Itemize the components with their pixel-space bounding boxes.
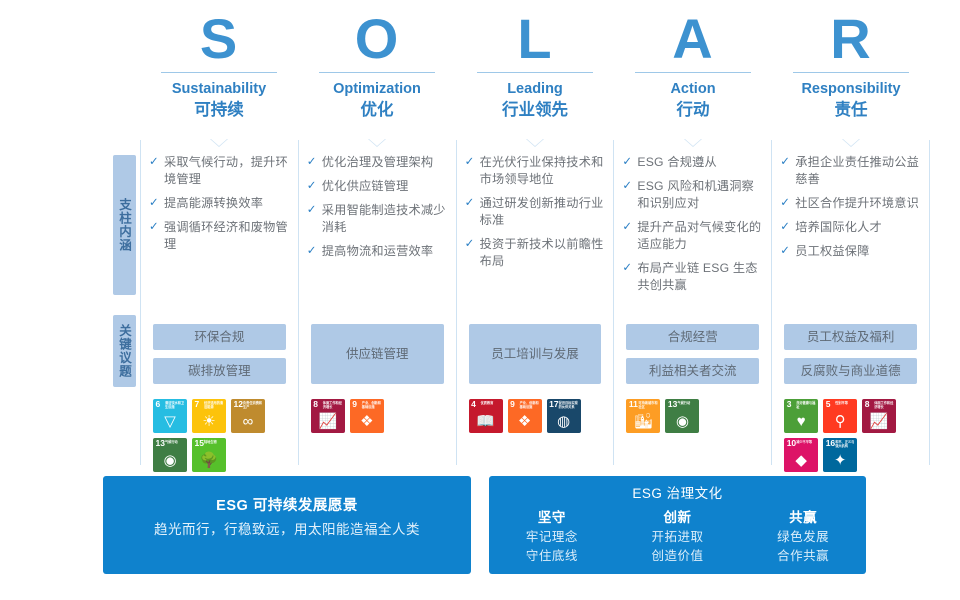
sdg-label: 体面工作和经济增长 bbox=[323, 401, 344, 409]
key-issue-list: 供应链管理 bbox=[307, 315, 448, 393]
bullet-text: 提升产品对气候变化的适应能力 bbox=[637, 219, 763, 253]
sdg-glyph-icon: ❖ bbox=[508, 412, 542, 432]
sdg-label: 产业、创新和基础设施 bbox=[362, 401, 383, 409]
sdg-label: 气候行动 bbox=[677, 401, 698, 405]
culture-group-head: 创新 bbox=[615, 507, 741, 528]
bullet-item: ✓优化治理及管理架构 bbox=[307, 154, 448, 171]
sdg-glyph-icon: 🌳 bbox=[192, 451, 226, 471]
pillar-header-a: AAction行动 bbox=[614, 8, 772, 133]
sdg-number: 9 bbox=[510, 400, 515, 409]
sdg-9-icon[interactable]: 9产业、创新和基础设施❖ bbox=[508, 399, 542, 433]
pillar-header-r: RResponsibility责任 bbox=[772, 8, 930, 133]
bullet-item: ✓ESG 风险和机遇洞察和识别应对 bbox=[622, 178, 763, 212]
bullet-item: ✓ESG 合规遵从 bbox=[622, 154, 763, 171]
bullet-text: 强调循环经济和废物管理 bbox=[164, 219, 290, 253]
bullet-text: 承担企业责任推动公益慈善 bbox=[795, 154, 921, 188]
sdg-glyph-icon: ◆ bbox=[784, 451, 818, 471]
culture-group: 创新开拓进取创造价值 bbox=[615, 507, 741, 566]
check-icon: ✓ bbox=[465, 154, 480, 171]
column-caret-icon bbox=[210, 139, 228, 147]
pillar-divider bbox=[635, 72, 751, 73]
sdg-label: 性别平等 bbox=[835, 401, 856, 405]
bullet-text: 员工权益保障 bbox=[795, 243, 869, 260]
key-issue-chip[interactable]: 利益相关者交流 bbox=[626, 358, 759, 384]
sdg-glyph-icon: ∞ bbox=[231, 412, 265, 432]
sdg-13-icon[interactable]: 13气候行动◉ bbox=[153, 438, 187, 472]
bullet-item: ✓布局产业链 ESG 生态共创共赢 bbox=[622, 260, 763, 294]
sdg-15-icon[interactable]: 15陆地生物🌳 bbox=[192, 438, 226, 472]
culture-groups: 坚守牢记理念守住底线创新开拓进取创造价值共赢绿色发展合作共赢 bbox=[489, 507, 866, 566]
pillar-divider bbox=[793, 72, 909, 73]
check-icon: ✓ bbox=[149, 195, 164, 212]
bullet-text: 采用智能制造技术减少消耗 bbox=[322, 202, 448, 236]
key-issue-chip[interactable]: 供应链管理 bbox=[311, 324, 444, 384]
check-icon: ✓ bbox=[780, 195, 795, 212]
bullet-item: ✓强调循环经济和废物管理 bbox=[149, 219, 290, 253]
key-issue-chip[interactable]: 碳排放管理 bbox=[153, 358, 286, 384]
bottom-banners: ESG 可持续发展愿景 趋光而行，行稳致远，用太阳能造福全人类 ESG 治理文化… bbox=[103, 476, 866, 574]
pillar-name-cn: 行动 bbox=[677, 99, 710, 121]
sdg-7-icon[interactable]: 7经济适用的清洁能源☀ bbox=[192, 399, 226, 433]
sdg-icon-group: 4优质教育📖9产业、创新和基础设施❖17促进目标实现的伙伴关系◍ bbox=[465, 393, 606, 433]
sdg-glyph-icon: ▽ bbox=[153, 412, 187, 432]
sdg-glyph-icon: ✦ bbox=[823, 451, 857, 471]
row-label-key-issues: 关键议题 bbox=[113, 315, 136, 387]
sdg-label: 可持续城市和社区 bbox=[638, 401, 659, 409]
solar-header: SSustainability可持续OOptimization优化LLeadin… bbox=[140, 8, 930, 133]
bullet-text: ESG 风险和机遇洞察和识别应对 bbox=[637, 178, 763, 212]
sdg-label: 促进目标实现的伙伴关系 bbox=[559, 401, 580, 409]
bullet-item: ✓投资于新技术以前瞻性布局 bbox=[465, 236, 606, 270]
pillar-name-en: Responsibility bbox=[801, 80, 900, 98]
bullet-text: 社区合作提升环境意识 bbox=[795, 195, 919, 212]
key-issue-list: 合规经营利益相关者交流 bbox=[622, 315, 763, 393]
pillar-name-en: Leading bbox=[507, 80, 563, 98]
pillar-board: ✓采取气候行动，提升环境管理✓提高能源转换效率✓强调循环经济和废物管理环保合规碳… bbox=[140, 140, 930, 465]
column-caret-icon bbox=[684, 139, 702, 147]
bullet-text: 通过研发创新推动行业标准 bbox=[480, 195, 606, 229]
sdg-3-icon[interactable]: 3良好健康与福祉♥ bbox=[784, 399, 818, 433]
key-issue-list: 员工权益及福利反腐败与商业道德 bbox=[780, 315, 921, 393]
sdg-5-icon[interactable]: 5性别平等⚲ bbox=[823, 399, 857, 433]
bullet-text: 采取气候行动，提升环境管理 bbox=[164, 154, 290, 188]
sdg-8-icon[interactable]: 8体面工作和经济增长📈 bbox=[311, 399, 345, 433]
check-icon: ✓ bbox=[622, 154, 637, 171]
bullet-item: ✓承担企业责任推动公益慈善 bbox=[780, 154, 921, 188]
bullet-item: ✓通过研发创新推动行业标准 bbox=[465, 195, 606, 229]
sdg-number: 7 bbox=[195, 400, 200, 409]
sdg-glyph-icon: ❖ bbox=[350, 412, 384, 432]
sdg-glyph-icon: ◉ bbox=[153, 451, 187, 471]
pillar-header-s: SSustainability可持续 bbox=[140, 8, 298, 133]
sdg-number: 3 bbox=[787, 400, 792, 409]
sdg-6-icon[interactable]: 6清洁饮水和卫生设施▽ bbox=[153, 399, 187, 433]
vision-title: ESG 可持续发展愿景 bbox=[216, 494, 358, 518]
sdg-glyph-icon: ◍ bbox=[547, 412, 581, 432]
pillar-bullet-list: ✓承担企业责任推动公益慈善✓社区合作提升环境意识✓培养国际化人才✓员工权益保障 bbox=[780, 140, 921, 315]
pillar-letter: R bbox=[830, 8, 871, 70]
sdg-number: 5 bbox=[826, 400, 831, 409]
check-icon: ✓ bbox=[307, 154, 322, 171]
pillar-name-en: Optimization bbox=[333, 80, 421, 98]
column-caret-icon bbox=[526, 139, 544, 147]
key-issue-list: 环保合规碳排放管理 bbox=[149, 315, 290, 393]
culture-group-line1: 开拓进取 bbox=[615, 528, 741, 547]
sdg-glyph-icon: 📈 bbox=[862, 412, 896, 432]
check-icon: ✓ bbox=[780, 243, 795, 260]
vision-subtitle: 趋光而行，行稳致远，用太阳能造福全人类 bbox=[154, 518, 420, 542]
bullet-text: 优化供应链管理 bbox=[322, 178, 409, 195]
pillar-bullet-list: ✓采取气候行动，提升环境管理✓提高能源转换效率✓强调循环经济和废物管理 bbox=[149, 140, 290, 315]
check-icon: ✓ bbox=[307, 202, 322, 219]
pillar-name-cn: 优化 bbox=[361, 99, 394, 121]
bullet-item: ✓提高能源转换效率 bbox=[149, 195, 290, 212]
bullet-text: 在光伏行业保持技术和市场领导地位 bbox=[480, 154, 606, 188]
sdg-label: 和平、正义与强大机构 bbox=[835, 440, 856, 448]
pillar-column-4: ✓ESG 合规遵从✓ESG 风险和机遇洞察和识别应对✓提升产品对气候变化的适应能… bbox=[613, 140, 771, 465]
sdg-label: 清洁饮水和卫生设施 bbox=[165, 401, 186, 409]
check-icon: ✓ bbox=[780, 219, 795, 236]
sdg-8-icon[interactable]: 8体面工作和经济增长📈 bbox=[862, 399, 896, 433]
sdg-icon-group: 6清洁饮水和卫生设施▽7经济适用的清洁能源☀12负责任消费和生产∞13气候行动◉… bbox=[149, 393, 290, 472]
pillar-name-en: Action bbox=[670, 80, 715, 98]
check-icon: ✓ bbox=[307, 243, 322, 260]
culture-group-head: 共赢 bbox=[740, 507, 866, 528]
bullet-text: 提高能源转换效率 bbox=[164, 195, 263, 212]
culture-group: 坚守牢记理念守住底线 bbox=[489, 507, 615, 566]
culture-group: 共赢绿色发展合作共赢 bbox=[740, 507, 866, 566]
pillar-letter: L bbox=[517, 8, 552, 70]
pillar-divider bbox=[319, 72, 435, 73]
pillar-header-o: OOptimization优化 bbox=[298, 8, 456, 133]
sdg-4-icon[interactable]: 4优质教育📖 bbox=[469, 399, 503, 433]
sdg-label: 减少不平等 bbox=[796, 440, 817, 444]
bullet-item: ✓优化供应链管理 bbox=[307, 178, 448, 195]
culture-group-line2: 创造价值 bbox=[615, 547, 741, 566]
pillar-bullet-list: ✓ESG 合规遵从✓ESG 风险和机遇洞察和识别应对✓提升产品对气候变化的适应能… bbox=[622, 140, 763, 315]
pillar-divider bbox=[161, 72, 277, 73]
pillar-bullet-list: ✓在光伏行业保持技术和市场领导地位✓通过研发创新推动行业标准✓投资于新技术以前瞻… bbox=[465, 140, 606, 315]
column-caret-icon bbox=[842, 139, 860, 147]
vision-banner: ESG 可持续发展愿景 趋光而行，行稳致远，用太阳能造福全人类 bbox=[103, 476, 471, 574]
pillar-column-3: ✓在光伏行业保持技术和市场领导地位✓通过研发创新推动行业标准✓投资于新技术以前瞻… bbox=[456, 140, 614, 465]
bullet-text: 投资于新技术以前瞻性布局 bbox=[480, 236, 606, 270]
pillar-name-cn: 行业领先 bbox=[502, 99, 568, 121]
sdg-11-icon[interactable]: 11可持续城市和社区🏙 bbox=[626, 399, 660, 433]
sdg-number: 16 bbox=[826, 439, 835, 448]
sdg-number: 15 bbox=[195, 439, 204, 448]
sdg-label: 气候行动 bbox=[165, 440, 186, 444]
sdg-9-icon[interactable]: 9产业、创新和基础设施❖ bbox=[350, 399, 384, 433]
sdg-number: 13 bbox=[156, 439, 165, 448]
check-icon: ✓ bbox=[149, 154, 164, 171]
pillar-column-1: ✓采取气候行动，提升环境管理✓提高能源转换效率✓强调循环经济和废物管理环保合规碳… bbox=[140, 140, 298, 465]
sdg-label: 经济适用的清洁能源 bbox=[204, 401, 225, 409]
key-issue-list: 员工培训与发展 bbox=[465, 315, 606, 393]
key-issue-chip[interactable]: 员工培训与发展 bbox=[469, 324, 602, 384]
check-icon: ✓ bbox=[622, 219, 637, 236]
bullet-text: 培养国际化人才 bbox=[795, 219, 882, 236]
pillar-letter: A bbox=[672, 8, 713, 70]
sdg-number: 4 bbox=[471, 400, 476, 409]
sdg-label: 产业、创新和基础设施 bbox=[520, 401, 541, 409]
culture-group-line2: 合作共赢 bbox=[740, 547, 866, 566]
sdg-10-icon[interactable]: 10减少不平等◆ bbox=[784, 438, 818, 472]
sdg-glyph-icon: ⚲ bbox=[823, 412, 857, 432]
bullet-text: 优化治理及管理架构 bbox=[322, 154, 434, 171]
sdg-number: 12 bbox=[234, 400, 243, 409]
sdg-glyph-icon: 🏙 bbox=[626, 412, 660, 432]
bullet-item: ✓采用智能制造技术减少消耗 bbox=[307, 202, 448, 236]
culture-group-line2: 守住底线 bbox=[489, 547, 615, 566]
pillar-name-cn: 可持续 bbox=[194, 99, 244, 121]
pillar-column-2: ✓优化治理及管理架构✓优化供应链管理✓采用智能制造技术减少消耗✓提高物流和运营效… bbox=[298, 140, 456, 465]
culture-group-line1: 绿色发展 bbox=[740, 528, 866, 547]
bullet-text: 提高物流和运营效率 bbox=[322, 243, 434, 260]
sdg-number: 17 bbox=[549, 400, 558, 409]
sdg-16-icon[interactable]: 16和平、正义与强大机构✦ bbox=[823, 438, 857, 472]
bullet-item: ✓社区合作提升环境意识 bbox=[780, 195, 921, 212]
sdg-icon-group: 11可持续城市和社区🏙13气候行动◉ bbox=[622, 393, 763, 433]
pillar-header-l: LLeading行业领先 bbox=[456, 8, 614, 133]
bullet-item: ✓提高物流和运营效率 bbox=[307, 243, 448, 260]
sdg-number: 10 bbox=[787, 439, 796, 448]
key-issue-chip[interactable]: 环保合规 bbox=[153, 324, 286, 350]
sdg-number: 11 bbox=[629, 400, 638, 409]
bullet-item: ✓采取气候行动，提升环境管理 bbox=[149, 154, 290, 188]
sdg-12-icon[interactable]: 12负责任消费和生产∞ bbox=[231, 399, 265, 433]
pillar-letter: S bbox=[200, 8, 238, 70]
check-icon: ✓ bbox=[307, 178, 322, 195]
bullet-item: ✓在光伏行业保持技术和市场领导地位 bbox=[465, 154, 606, 188]
sdg-number: 6 bbox=[156, 400, 161, 409]
check-icon: ✓ bbox=[149, 219, 164, 236]
sdg-17-icon[interactable]: 17促进目标实现的伙伴关系◍ bbox=[547, 399, 581, 433]
culture-group-head: 坚守 bbox=[489, 507, 615, 528]
pillar-column-5: ✓承担企业责任推动公益慈善✓社区合作提升环境意识✓培养国际化人才✓员工权益保障员… bbox=[771, 140, 930, 465]
sdg-number: 9 bbox=[352, 400, 357, 409]
culture-group-line1: 牢记理念 bbox=[489, 528, 615, 547]
bullet-text: 布局产业链 ESG 生态共创共赢 bbox=[637, 260, 763, 294]
sdg-number: 8 bbox=[865, 400, 870, 409]
sdg-glyph-icon: ☀ bbox=[192, 412, 226, 432]
pillar-name-cn: 责任 bbox=[835, 99, 868, 121]
bullet-item: ✓提升产品对气候变化的适应能力 bbox=[622, 219, 763, 253]
pillar-name-en: Sustainability bbox=[172, 80, 266, 98]
column-caret-icon bbox=[368, 139, 386, 147]
sdg-glyph-icon: 📖 bbox=[469, 412, 503, 432]
sdg-label: 优质教育 bbox=[481, 401, 502, 405]
sdg-label: 良好健康与福祉 bbox=[796, 401, 817, 409]
bullet-item: ✓培养国际化人才 bbox=[780, 219, 921, 236]
key-issue-chip[interactable]: 反腐败与商业道德 bbox=[784, 358, 917, 384]
sdg-glyph-icon: 📈 bbox=[311, 412, 345, 432]
sdg-13-icon[interactable]: 13气候行动◉ bbox=[665, 399, 699, 433]
key-issue-chip[interactable]: 员工权益及福利 bbox=[784, 324, 917, 350]
pillar-divider bbox=[477, 72, 593, 73]
row-label-pillar: 支柱内涵 bbox=[113, 155, 136, 295]
sdg-label: 体面工作和经济增长 bbox=[874, 401, 895, 409]
sdg-glyph-icon: ◉ bbox=[665, 412, 699, 432]
check-icon: ✓ bbox=[622, 260, 637, 277]
check-icon: ✓ bbox=[465, 195, 480, 212]
bullet-item: ✓员工权益保障 bbox=[780, 243, 921, 260]
sdg-icon-group: 3良好健康与福祉♥5性别平等⚲8体面工作和经济增长📈10减少不平等◆16和平、正… bbox=[780, 393, 921, 472]
check-icon: ✓ bbox=[780, 154, 795, 171]
culture-title: ESG 治理文化 bbox=[489, 482, 866, 506]
key-issue-chip[interactable]: 合规经营 bbox=[626, 324, 759, 350]
check-icon: ✓ bbox=[622, 178, 637, 195]
check-icon: ✓ bbox=[465, 236, 480, 253]
sdg-number: 13 bbox=[668, 400, 677, 409]
pillar-letter: O bbox=[355, 8, 400, 70]
sdg-label: 陆地生物 bbox=[204, 440, 225, 444]
culture-banner: ESG 治理文化 坚守牢记理念守住底线创新开拓进取创造价值共赢绿色发展合作共赢 bbox=[489, 476, 866, 574]
sdg-glyph-icon: ♥ bbox=[784, 412, 818, 432]
sdg-number: 8 bbox=[313, 400, 318, 409]
sdg-icon-group: 8体面工作和经济增长📈9产业、创新和基础设施❖ bbox=[307, 393, 448, 433]
sdg-label: 负责任消费和生产 bbox=[243, 401, 264, 409]
pillar-bullet-list: ✓优化治理及管理架构✓优化供应链管理✓采用智能制造技术减少消耗✓提高物流和运营效… bbox=[307, 140, 448, 315]
bullet-text: ESG 合规遵从 bbox=[637, 154, 716, 171]
